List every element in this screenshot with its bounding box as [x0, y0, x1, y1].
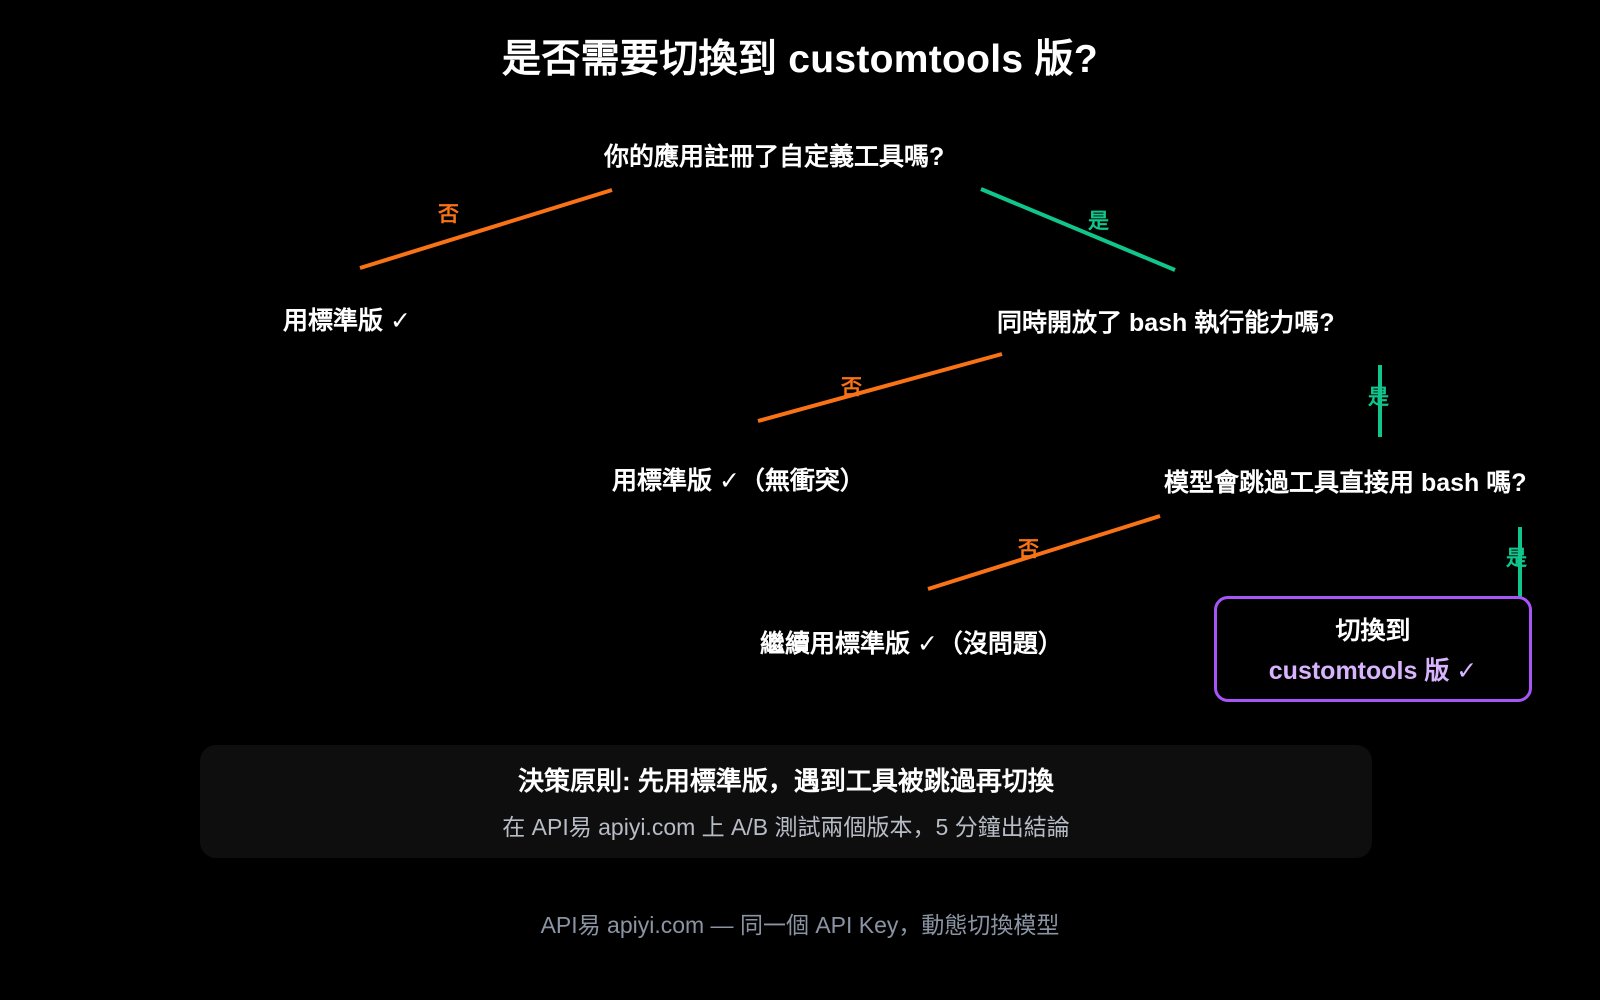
callout-main-text: 決策原則: 先用標準版，遇到工具被跳過再切換	[518, 761, 1054, 798]
question-node-q3: 模型會跳過工具直接用 bash 嗎?	[1164, 463, 1527, 499]
edge-label-q2-no: 否	[841, 371, 862, 401]
highlight-outcome-node: 切換到 customtools 版 ✓	[1214, 596, 1532, 702]
outcome-node-o1: 用標準版 ✓	[283, 301, 411, 337]
edge-label-q3-yes: 是	[1506, 542, 1527, 572]
diagram-canvas: 是否需要切換到 customtools 版? 你的應用註冊了自定義工具嗎? 否 …	[0, 0, 1600, 1000]
edge-q1-yes	[981, 189, 1175, 270]
edge-label-q2-yes: 是	[1368, 381, 1389, 411]
edge-q2-no	[758, 354, 1002, 421]
decision-principle-callout: 決策原則: 先用標準版，遇到工具被跳過再切換 在 API易 apiyi.com …	[200, 745, 1372, 858]
outcome-node-o2: 用標準版 ✓（無衝突）	[612, 461, 865, 497]
page-title: 是否需要切換到 customtools 版?	[0, 28, 1600, 84]
edge-q3-no	[928, 516, 1160, 589]
highlight-line-2: customtools 版 ✓	[1269, 651, 1477, 687]
outcome-node-o3: 繼續用標準版 ✓（沒問題）	[760, 624, 1063, 660]
footer-text: API易 apiyi.com — 同一個 API Key，動態切換模型	[0, 906, 1600, 940]
edge-label-q1-no: 否	[438, 198, 459, 228]
question-node-q1: 你的應用註冊了自定義工具嗎?	[604, 137, 944, 173]
question-node-q2: 同時開放了 bash 執行能力嗎?	[997, 303, 1335, 339]
edge-label-q1-yes: 是	[1088, 205, 1109, 235]
callout-sub-text: 在 API易 apiyi.com 上 A/B 測試兩個版本，5 分鐘出結論	[502, 808, 1069, 842]
highlight-line-1: 切換到	[1335, 611, 1410, 647]
edge-label-q3-no: 否	[1018, 533, 1039, 563]
edge-q1-no	[360, 190, 612, 268]
